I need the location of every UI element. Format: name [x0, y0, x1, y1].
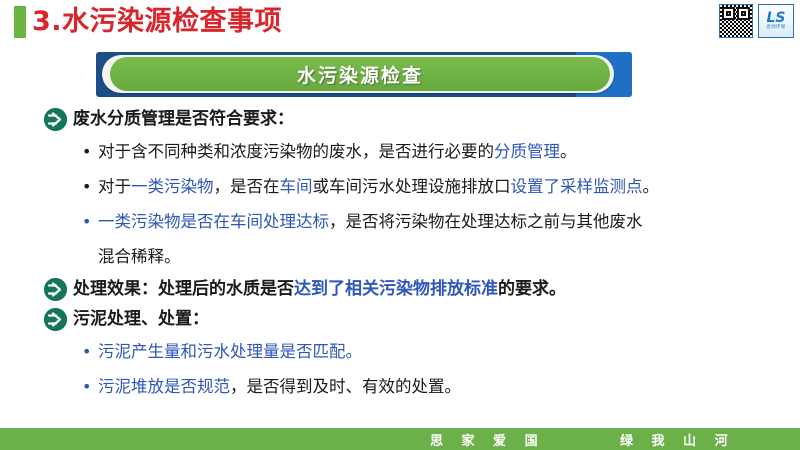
bullet-text: 对于一类污染物，是否在车间或车间污水处理设施排放口设置了采样监测点。	[98, 169, 659, 204]
section-banner: 水污染源检查	[96, 52, 632, 97]
section-heading: 废水分质管理是否符合要求：	[0, 104, 800, 134]
list-item: • 对于含不同种类和浓度污染物的废水，是否进行必要的分质管理。	[0, 134, 800, 169]
slide-root: 3.水污染源检查事项 LS 思绿环保 水污染源检查	[0, 0, 800, 450]
bullet-text: 污泥堆放是否规范，是否得到及时、有效的处置。	[98, 369, 461, 404]
org-logo-mark: LS	[766, 11, 785, 25]
org-logo[interactable]: LS 思绿环保	[758, 4, 794, 38]
section-sludge-treatment: 污泥处理、处置： • 污泥产生量和污水处理量是否匹配。 • 污泥堆放是否规范，是…	[0, 304, 800, 404]
section-heading-text: 废水分质管理是否符合要求：	[73, 104, 294, 134]
section-heading-text: 处理效果：处理后的水质是否达到了相关污染物排放标准的要求。	[73, 274, 566, 304]
bullet-text: 一类污染物是否在车间处理达标，是否将污染物在处理达标之前与其他废水	[98, 204, 643, 239]
slide-header: 3.水污染源检查事项 LS 思绿环保	[0, 0, 800, 46]
list-item: • 一类污染物是否在车间处理达标，是否将污染物在处理达标之前与其他废水	[0, 204, 800, 239]
section-heading: 污泥处理、处置：	[0, 304, 800, 334]
bullet-text-continuation: 混合稀释。	[0, 239, 800, 274]
content-area: 废水分质管理是否符合要求： • 对于含不同种类和浓度污染物的废水，是否进行必要的…	[0, 104, 800, 404]
bullet-marker: •	[82, 169, 98, 204]
section-wastewater-quality-management: 废水分质管理是否符合要求： • 对于含不同种类和浓度污染物的废水，是否进行必要的…	[0, 104, 800, 274]
qr-code-icon[interactable]	[719, 4, 753, 38]
double-arrow-icon	[44, 278, 67, 301]
bullet-marker: •	[82, 204, 98, 239]
section-heading: 处理效果：处理后的水质是否达到了相关污染物排放标准的要求。	[0, 274, 800, 304]
footer-slogan-right: 绿 我 山 河	[620, 430, 735, 449]
slide-footer: 思 家 爱 国 绿 我 山 河	[0, 428, 800, 450]
list-item: • 对于一类污染物，是否在车间或车间污水处理设施排放口设置了采样监测点。	[0, 169, 800, 204]
title-accent-bar	[14, 6, 26, 38]
banner-title: 水污染源检查	[297, 61, 423, 88]
page-title: 3.水污染源检查事项	[32, 2, 282, 42]
section-treatment-effect: 处理效果：处理后的水质是否达到了相关污染物排放标准的要求。	[0, 274, 800, 304]
bullet-text: 对于含不同种类和浓度污染物的废水，是否进行必要的分质管理。	[98, 134, 577, 169]
bullet-marker: •	[82, 369, 98, 404]
section-heading-text: 污泥处理、处置：	[73, 304, 209, 334]
list-item: • 污泥产生量和污水处理量是否匹配。	[0, 334, 800, 369]
org-logo-name: 思绿环保	[766, 26, 785, 31]
list-item: • 污泥堆放是否规范，是否得到及时、有效的处置。	[0, 369, 800, 404]
bullet-text: 污泥产生量和污水处理量是否匹配。	[98, 334, 362, 369]
footer-slogan-left: 思 家 爱 国	[430, 430, 545, 449]
double-arrow-icon	[44, 308, 67, 331]
bullet-marker: •	[82, 134, 98, 169]
double-arrow-icon	[44, 108, 67, 131]
bullet-marker: •	[82, 334, 98, 369]
header-badges: LS 思绿环保	[719, 4, 794, 38]
banner-fill: 水污染源检查	[110, 57, 610, 91]
